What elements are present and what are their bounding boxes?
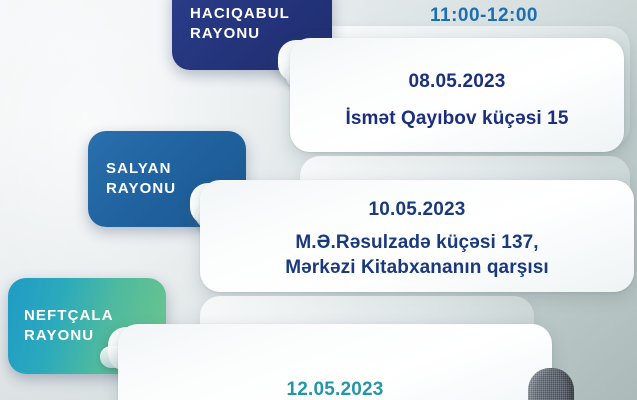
card-address-2: M.Ə.Rəsulzadə küçəsi 137, (295, 231, 538, 254)
district-name-line1: HACIQABUL (190, 4, 332, 24)
microphone-icon (528, 368, 574, 400)
info-card-neftcala[interactable]: 12.05.2023 (118, 324, 552, 400)
card-date-2: 10.05.2023 (368, 199, 465, 221)
card-date-3: 12.05.2023 (286, 379, 383, 400)
poster-canvas: HACIQABUL RAYONU 08.05.2023 İsmət Qayıbo… (0, 0, 637, 400)
session-time-label: 11:00-12:00 (430, 5, 538, 27)
info-card-haciqabul[interactable]: 08.05.2023 İsmət Qayıbov küçəsi 15 (290, 38, 624, 152)
district-name-line1: SALYAN (106, 159, 246, 179)
district-name-line1: NEFTÇALA (24, 306, 166, 326)
microphone-head (528, 368, 574, 400)
info-card-salyan[interactable]: 10.05.2023 M.Ə.Rəsulzadə küçəsi 137, Mər… (200, 180, 634, 292)
card-address-1: İsmət Qayıbov küçəsi 15 (345, 107, 568, 130)
card-address-2-line2: Mərkəzi Kitabxananın qarşısı (285, 256, 549, 279)
card-date-1: 08.05.2023 (408, 71, 505, 93)
